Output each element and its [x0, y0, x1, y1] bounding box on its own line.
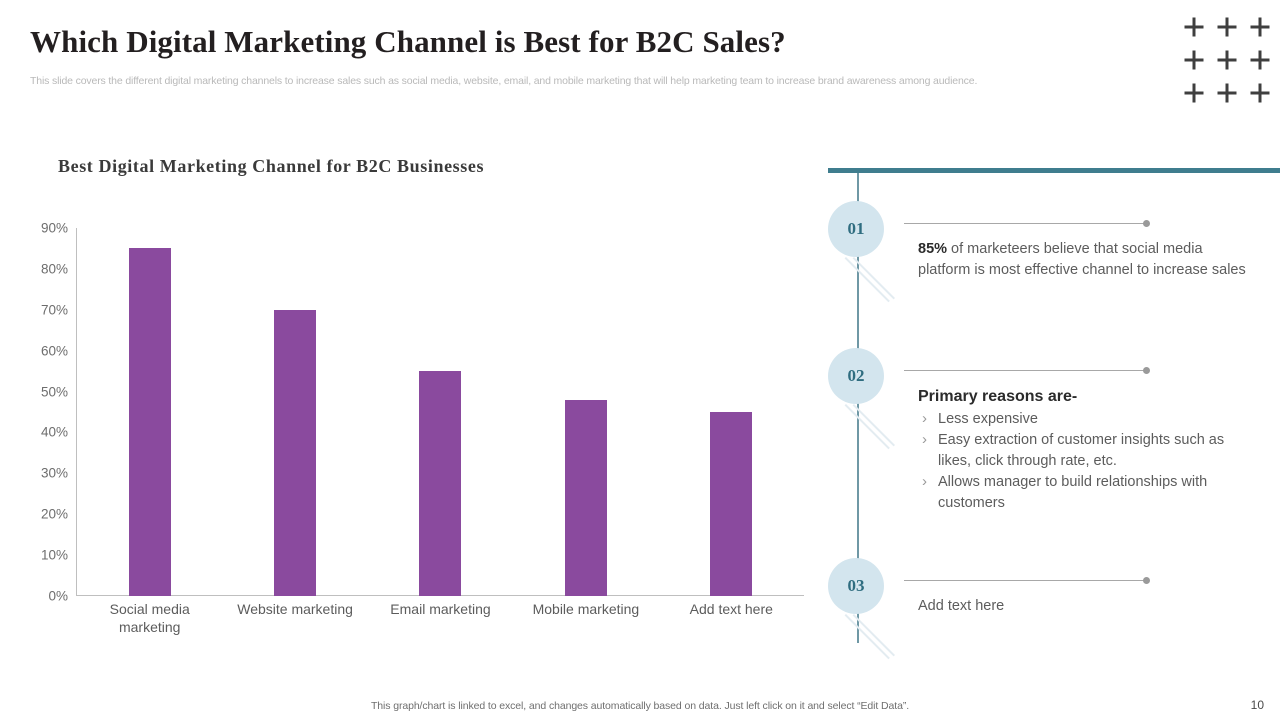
step-number-badge[interactable]: 02	[828, 348, 884, 404]
plus-icon	[1243, 10, 1276, 43]
x-axis-tick: Add text here	[659, 600, 804, 618]
step-bullet-list: Less expensiveEasy extraction of custome…	[918, 409, 1248, 514]
bar-slot	[77, 228, 222, 596]
diagonal-accent-icon	[845, 614, 890, 659]
connector-line	[904, 580, 1146, 581]
bar-slot	[368, 228, 513, 596]
y-axis-tick: 20%	[41, 507, 68, 522]
y-axis-tick: 40%	[41, 425, 68, 440]
list-item: Allows manager to build relationships wi…	[918, 472, 1248, 514]
diagonal-accent-icon	[853, 257, 895, 299]
list-item: Less expensive	[918, 409, 1248, 430]
plus-icon	[1243, 43, 1276, 76]
connector-endpoint-dot	[1143, 367, 1150, 374]
y-axis-tick: 80%	[41, 261, 68, 276]
diagonal-accent-icon	[845, 257, 890, 302]
x-axis-tick-labels: Social media marketingWebsite marketingE…	[77, 600, 804, 646]
step-heading: Primary reasons are-	[918, 386, 1248, 407]
connector-line	[904, 223, 1146, 224]
diagonal-accent-icon	[853, 614, 895, 656]
page-number: 10	[1251, 698, 1264, 712]
y-axis-tick: 30%	[41, 466, 68, 481]
chart-title: Best Digital Marketing Channel for B2C B…	[58, 156, 484, 177]
list-item: Easy extraction of customer insights suc…	[918, 430, 1248, 472]
insights-panel: 0185% of marketeers believe that social …	[828, 168, 1280, 668]
y-axis-tick-labels: 90%80%70%60%50%40%30%20%10%0%	[18, 228, 68, 596]
x-axis-tick: Email marketing	[368, 600, 513, 618]
y-axis-tick: 50%	[41, 384, 68, 399]
connector-endpoint-dot	[1143, 577, 1150, 584]
y-axis-tick: 0%	[48, 589, 68, 604]
plus-icon	[1177, 43, 1210, 76]
bar-slot	[513, 228, 658, 596]
bar[interactable]	[129, 248, 171, 596]
y-axis-tick: 10%	[41, 548, 68, 563]
diagonal-accent-icon	[845, 404, 890, 449]
connector-endpoint-dot	[1143, 220, 1150, 227]
plus-icon	[1243, 76, 1276, 109]
y-axis-tick: 60%	[41, 343, 68, 358]
x-axis-tick: Website marketing	[222, 600, 367, 618]
chart-panel: Best Digital Marketing Channel for B2C B…	[0, 150, 820, 650]
bar-series	[77, 228, 804, 596]
bar[interactable]	[419, 371, 461, 596]
bar[interactable]	[710, 412, 752, 596]
step-body: 85% of marketeers believe that social me…	[918, 239, 1248, 281]
step-text: of marketeers believe that social media …	[918, 241, 1246, 278]
step-text: Add text here	[918, 598, 1004, 614]
step-number-badge[interactable]: 01	[828, 201, 884, 257]
bar-slot	[659, 228, 804, 596]
step-lead-metric: 85%	[918, 241, 947, 257]
page-subtitle: This slide covers the different digital …	[30, 75, 1160, 87]
footer-note: This graph/chart is linked to excel, and…	[0, 700, 1280, 712]
y-axis-tick: 90%	[41, 221, 68, 236]
bar[interactable]	[274, 310, 316, 596]
page-title: Which Digital Marketing Channel is Best …	[30, 24, 786, 60]
accent-bar	[828, 168, 1280, 173]
plus-icon	[1210, 10, 1243, 43]
plus-grid-decoration	[1177, 10, 1276, 109]
plus-icon	[1177, 76, 1210, 109]
chart-plot-area[interactable]: 90%80%70%60%50%40%30%20%10%0%	[76, 228, 804, 596]
plus-icon	[1177, 10, 1210, 43]
step-body: Add text here	[918, 596, 1248, 617]
x-axis-tick: Mobile marketing	[513, 600, 658, 618]
step-number-badge[interactable]: 03	[828, 558, 884, 614]
y-axis-tick: 70%	[41, 302, 68, 317]
plus-icon	[1210, 43, 1243, 76]
plus-icon	[1210, 76, 1243, 109]
x-axis-tick: Social media marketing	[77, 600, 222, 636]
diagonal-accent-icon	[853, 404, 895, 446]
bar[interactable]	[565, 400, 607, 596]
bar-slot	[222, 228, 367, 596]
step-body: Primary reasons are-Less expensiveEasy e…	[918, 386, 1248, 514]
connector-line	[904, 370, 1146, 371]
